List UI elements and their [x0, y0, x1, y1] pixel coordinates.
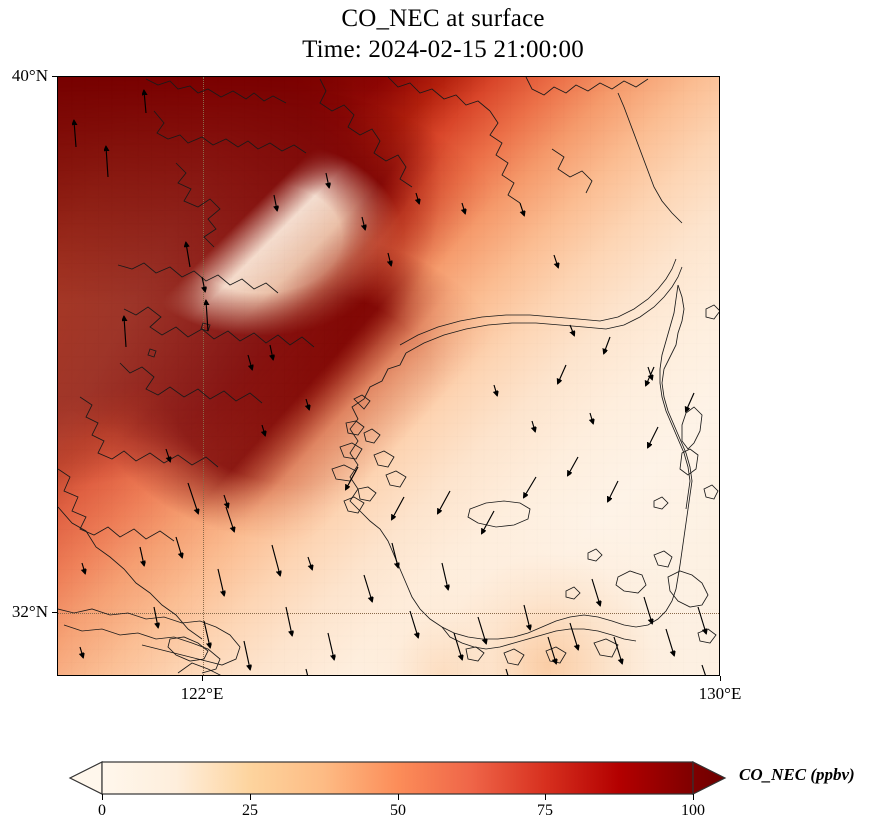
colorbar-tick-label-75: 75: [537, 802, 553, 820]
y-tick-mark-40n: [52, 76, 57, 77]
title-line-variable: CO_NEC at surface: [0, 4, 886, 35]
colorbar-tick-25: [250, 794, 251, 800]
x-tick-mark-122e: [202, 676, 203, 681]
y-tick-label-40n: 40°N: [12, 66, 48, 86]
colorbar-tick-label-0: 0: [98, 802, 106, 820]
colorbar-tick-0: [102, 794, 103, 800]
colorbar-extend-low: [70, 762, 102, 794]
colorbar-extend-high: [693, 762, 725, 794]
map-field-clip: [58, 77, 719, 675]
title-line-time: Time: 2024-02-15 21:00:00: [0, 35, 886, 66]
chart-title: CO_NEC at surface Time: 2024-02-15 21:00…: [0, 4, 886, 65]
y-tick-label-32n: 32°N: [12, 602, 48, 622]
colorbar-axis-label: CO_NEC (ppbv): [739, 765, 855, 785]
colorbar-tick-label-25: 25: [242, 802, 258, 820]
x-tick-label-122e: 122°E: [181, 684, 224, 704]
map-plot-area[interactable]: [57, 76, 720, 676]
colorbar-tick-100: [693, 794, 694, 800]
wind-quiver-overlay: [58, 77, 719, 675]
colorbar-body: [102, 762, 693, 794]
y-tick-mark-32n: [52, 612, 57, 613]
colorbar-tick-label-100: 100: [681, 802, 705, 820]
colorbar-tick-label-50: 50: [390, 802, 406, 820]
x-tick-mark-130e: [720, 676, 721, 681]
x-tick-label-130e: 130°E: [699, 684, 742, 704]
colorbar-tick-75: [545, 794, 546, 800]
colorbar-tick-50: [398, 794, 399, 800]
colorbar-gradient[interactable]: [62, 758, 732, 806]
